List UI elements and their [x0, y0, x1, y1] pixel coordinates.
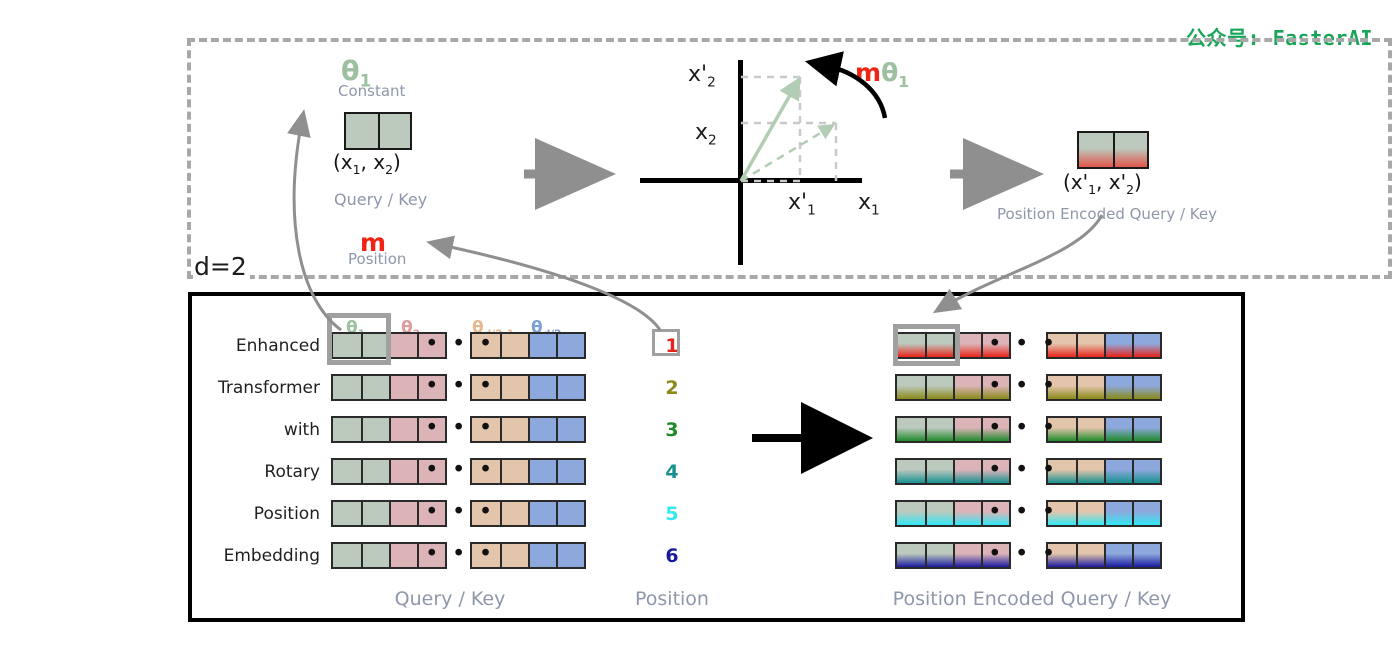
vector-cell [897, 544, 925, 567]
vector-cell [556, 460, 584, 483]
encoded-coordinate-label: (x'1, x'2) [1063, 170, 1142, 197]
encoded-vector-right [1046, 500, 1162, 527]
vector-cell [1076, 460, 1104, 483]
vector-cell [1132, 544, 1160, 567]
theta1-highlight-box [327, 313, 391, 365]
vector-cell [333, 502, 361, 525]
position-m-caption: Position [348, 250, 406, 268]
vector-cell [389, 460, 417, 483]
rotation-angle-label: mθ1 [855, 58, 909, 91]
vector-cell [1076, 334, 1104, 357]
encoded-vector-right [1046, 374, 1162, 401]
vector-cell [556, 544, 584, 567]
ellipsis-right: • • • [988, 457, 1058, 484]
ellipsis-left: • • • [425, 373, 495, 400]
query-key-caption: Query / Key [334, 190, 427, 209]
query-key-cell [346, 114, 378, 148]
vector-cell [528, 502, 556, 525]
vector-cell [333, 460, 361, 483]
vector-cell [528, 376, 556, 399]
vector-cell [361, 502, 389, 525]
vector-segment [1046, 542, 1162, 569]
vector-cell [556, 334, 584, 357]
vector-cell [500, 334, 528, 357]
y-axis-tick-x2: x2 [695, 120, 717, 148]
y-axis-tick-xprime2: x'2 [688, 62, 716, 90]
ellipsis-left: • • • [425, 499, 495, 526]
position-number: 2 [652, 377, 692, 399]
vector-cell [528, 334, 556, 357]
vector-cell [500, 544, 528, 567]
encoded-vector-right [1046, 416, 1162, 443]
vector-segment [1046, 458, 1162, 485]
vector-cell [925, 460, 953, 483]
vector-cell [389, 544, 417, 567]
position-number: 4 [652, 461, 692, 483]
vector-cell [1076, 544, 1104, 567]
x-axis-tick-xprime1: x'1 [788, 190, 816, 218]
position-number: 5 [652, 503, 692, 525]
row-word-label: Transformer [185, 378, 320, 398]
vector-cell [925, 544, 953, 567]
ellipsis-right: • • • [988, 373, 1058, 400]
caption-query-key: Query / Key [330, 588, 570, 610]
vector-cell [953, 544, 981, 567]
ellipsis-left: • • • [425, 331, 495, 358]
encoded-query-key-vector-box [1077, 131, 1149, 169]
vector-segment [1046, 416, 1162, 443]
encoded-query-key-caption: Position Encoded Query / Key [997, 205, 1217, 223]
vector-cell [389, 502, 417, 525]
vector-cell [361, 544, 389, 567]
row-word-label: Position [185, 504, 320, 524]
vector-cell [1104, 376, 1132, 399]
vector-cell [1104, 418, 1132, 441]
vector-segment [1046, 500, 1162, 527]
vector-cell [556, 376, 584, 399]
vector-cell [953, 376, 981, 399]
vector-cell [1132, 376, 1160, 399]
ellipsis-left: • • • [425, 541, 495, 568]
ellipsis-right: • • • [988, 499, 1058, 526]
vector-cell [897, 502, 925, 525]
theta-constant-caption: Constant [338, 82, 405, 100]
dimension-label: d=2 [193, 252, 250, 281]
vector-cell [1076, 418, 1104, 441]
encoded-vector-right [1046, 458, 1162, 485]
query-key-vector-box [344, 112, 412, 150]
rotation-axes-plot: x'2 x2 x'1 x1 mθ1 [640, 50, 910, 270]
vector-cell [1104, 544, 1132, 567]
vector-cell [361, 418, 389, 441]
vector-cell [333, 544, 361, 567]
vector-cell [1076, 502, 1104, 525]
vector-cell [953, 460, 981, 483]
query-key-cell [378, 114, 410, 148]
encoded-query-key-cell [1113, 133, 1147, 167]
vector-cell [556, 418, 584, 441]
vector-cell [389, 334, 417, 357]
vector-cell [897, 418, 925, 441]
vector-segment [1046, 374, 1162, 401]
vector-cell [528, 460, 556, 483]
position1-highlight-box [652, 329, 680, 356]
ellipsis-right: • • • [988, 415, 1058, 442]
vector-cell [1076, 376, 1104, 399]
vector-cell [361, 376, 389, 399]
x-axis-tick-x1: x1 [858, 190, 880, 218]
vector-cell [1132, 334, 1160, 357]
vector-cell [389, 376, 417, 399]
row-word-label: with [185, 420, 320, 440]
vector-cell [925, 376, 953, 399]
vector-cell [361, 460, 389, 483]
diagram-canvas: 公众号: FasterAI d=2 θ1 Constant (x1, x2) Q… [0, 0, 1396, 664]
vector-cell [556, 502, 584, 525]
vector-cell [1132, 418, 1160, 441]
vector-cell [925, 502, 953, 525]
vector-cell [500, 376, 528, 399]
encoded-query-key-cell [1079, 133, 1113, 167]
row-word-label: Enhanced [185, 336, 320, 356]
vector-cell [925, 418, 953, 441]
vector-cell [1132, 502, 1160, 525]
vector-segment [1046, 332, 1162, 359]
encoded-vector-right [1046, 542, 1162, 569]
position-number: 6 [652, 545, 692, 567]
vector-cell [953, 502, 981, 525]
vector-cell [333, 418, 361, 441]
vector-cell [389, 418, 417, 441]
position-number: 3 [652, 419, 692, 441]
vector-cell [1104, 334, 1132, 357]
ellipsis-left: • • • [425, 457, 495, 484]
encoded-vector-right [1046, 332, 1162, 359]
vector-cell [953, 418, 981, 441]
vector-cell [528, 544, 556, 567]
vector-cell [1104, 460, 1132, 483]
vector-cell [500, 502, 528, 525]
ellipsis-right: • • • [988, 541, 1058, 568]
vector-cell [1132, 460, 1160, 483]
vector-cell [897, 460, 925, 483]
vector-cell [500, 418, 528, 441]
ellipsis-left: • • • [425, 415, 495, 442]
vector-cell [1104, 502, 1132, 525]
row-word-label: Rotary [185, 462, 320, 482]
vector-cell [500, 460, 528, 483]
caption-position: Position [592, 588, 752, 610]
row-word-label: Embedding [185, 546, 320, 566]
vector-cell [528, 418, 556, 441]
encoded-highlight-box [893, 324, 960, 366]
vector-cell [897, 376, 925, 399]
query-key-coordinate-label: (x1, x2) [333, 150, 401, 177]
caption-encoded-query-key: Position Encoded Query / Key [872, 588, 1192, 610]
vector-cell [333, 376, 361, 399]
ellipsis-right: • • • [988, 331, 1058, 358]
